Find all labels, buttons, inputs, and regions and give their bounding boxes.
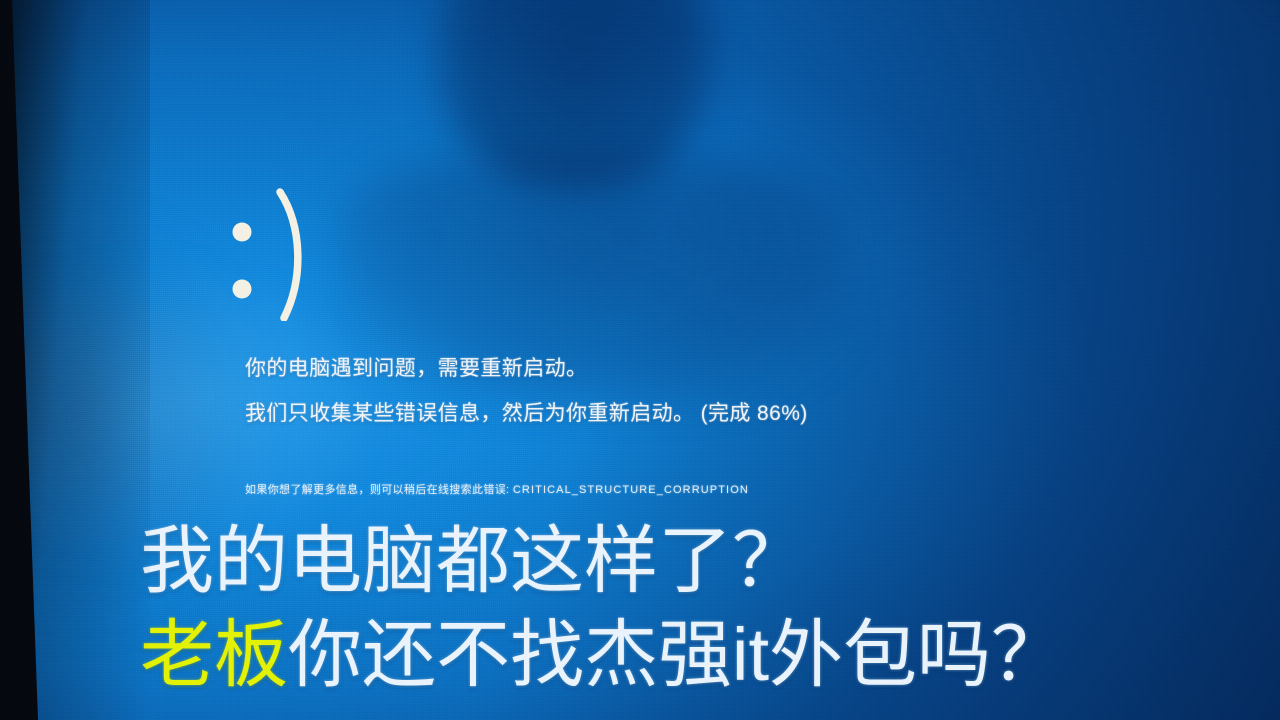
- monitor-photo: 你的电脑遇到问题，需要重新启动。 我们只收集某些错误信息，然后为你重新启动。 (…: [0, 0, 1280, 720]
- bsod-more-info-text: 如果你想了解更多信息，则可以稍后在线搜索此错误:: [245, 484, 513, 496]
- bsod-content: 你的电脑遇到问题，需要重新启动。 我们只收集某些错误信息，然后为你重新启动。 (…: [0, 0, 1280, 720]
- bsod-message-line-1: 你的电脑遇到问题，需要重新启动。: [245, 352, 587, 382]
- bsod-more-info-line: 如果你想了解更多信息，则可以稍后在线搜索此错误: CRITICAL_STRUCT…: [245, 481, 749, 497]
- bsod-message-line-2: 我们只收集某些错误信息，然后为你重新启动。 (完成 86%): [245, 397, 808, 427]
- sad-face-icon: [222, 186, 352, 321]
- overlay-caption-line-2: 老板你还不找杰强it外包吗？: [140, 618, 1065, 692]
- bsod-stop-code: CRITICAL_STRUCTURE_CORRUPTION: [513, 484, 749, 496]
- overlay-caption-line-1: 我的电脑都这样了？: [140, 524, 806, 598]
- overlay-caption-highlight: 老板: [140, 613, 288, 696]
- overlay-caption-rest: 你还不找杰强it外包吗？: [288, 613, 1065, 696]
